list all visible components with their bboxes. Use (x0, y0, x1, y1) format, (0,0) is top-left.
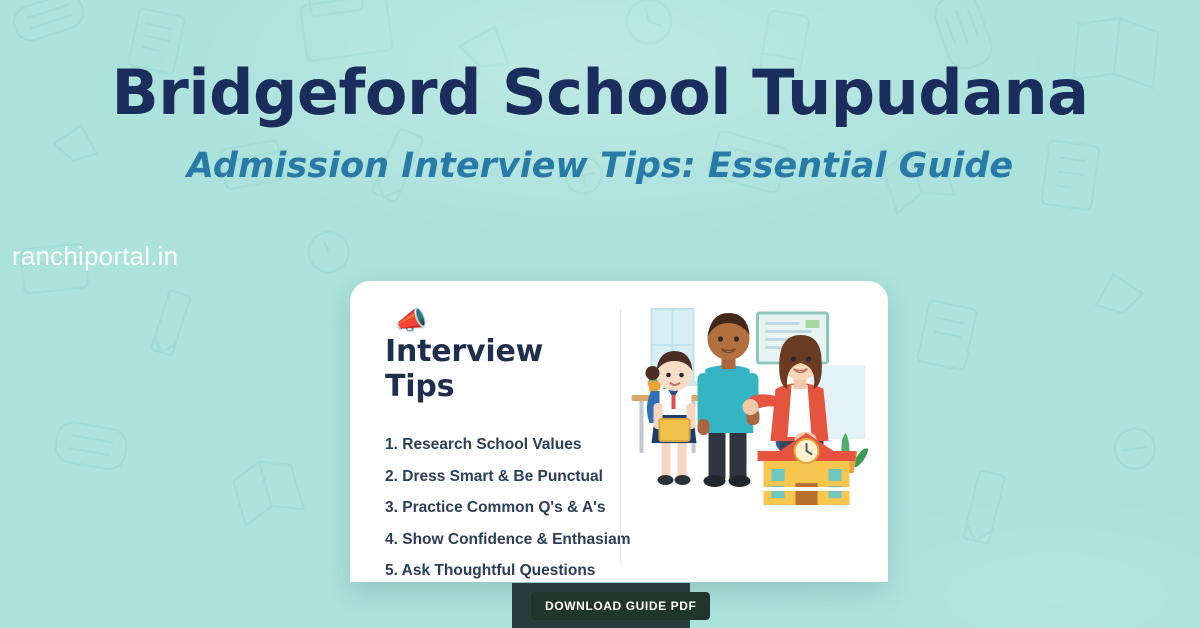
megaphone-icon: 📣 (395, 307, 427, 333)
list-item: Ask Thoughtful Questions (385, 563, 620, 579)
tips-heading: Interview Tips (385, 334, 620, 404)
page-title: Bridgeford School Tupudana (0, 60, 1200, 125)
interview-tips-card: 📣 Interview Tips Research School Values … (350, 281, 888, 582)
school-admission-interview-illustration (621, 291, 888, 561)
tips-list: Research School Values Dress Smart & Be … (385, 437, 620, 579)
download-guide-pdf-button[interactable]: DOWNLOAD GUIDE PDF (531, 592, 710, 620)
list-item: Research School Values (385, 437, 620, 453)
page-subtitle: Admission Interview Tips: Essential Guid… (0, 147, 1200, 186)
cta-bar: DOWNLOAD GUIDE PDF (512, 583, 690, 628)
list-item: Dress Smart & Be Punctual (385, 469, 620, 485)
poster-canvas: Bridgeford School Tupudana Admission Int… (0, 0, 1200, 628)
tips-pane: 📣 Interview Tips Research School Values … (350, 281, 620, 582)
illustration-pane (621, 281, 888, 582)
site-watermark: ranchiportal.in (12, 241, 178, 272)
header-block: Bridgeford School Tupudana Admission Int… (0, 60, 1200, 186)
list-item: Show Confidence & Enthasiam (385, 532, 620, 548)
list-item: Practice Common Q's & A's (385, 500, 620, 516)
tips-header: 📣 Interview Tips (385, 307, 620, 404)
